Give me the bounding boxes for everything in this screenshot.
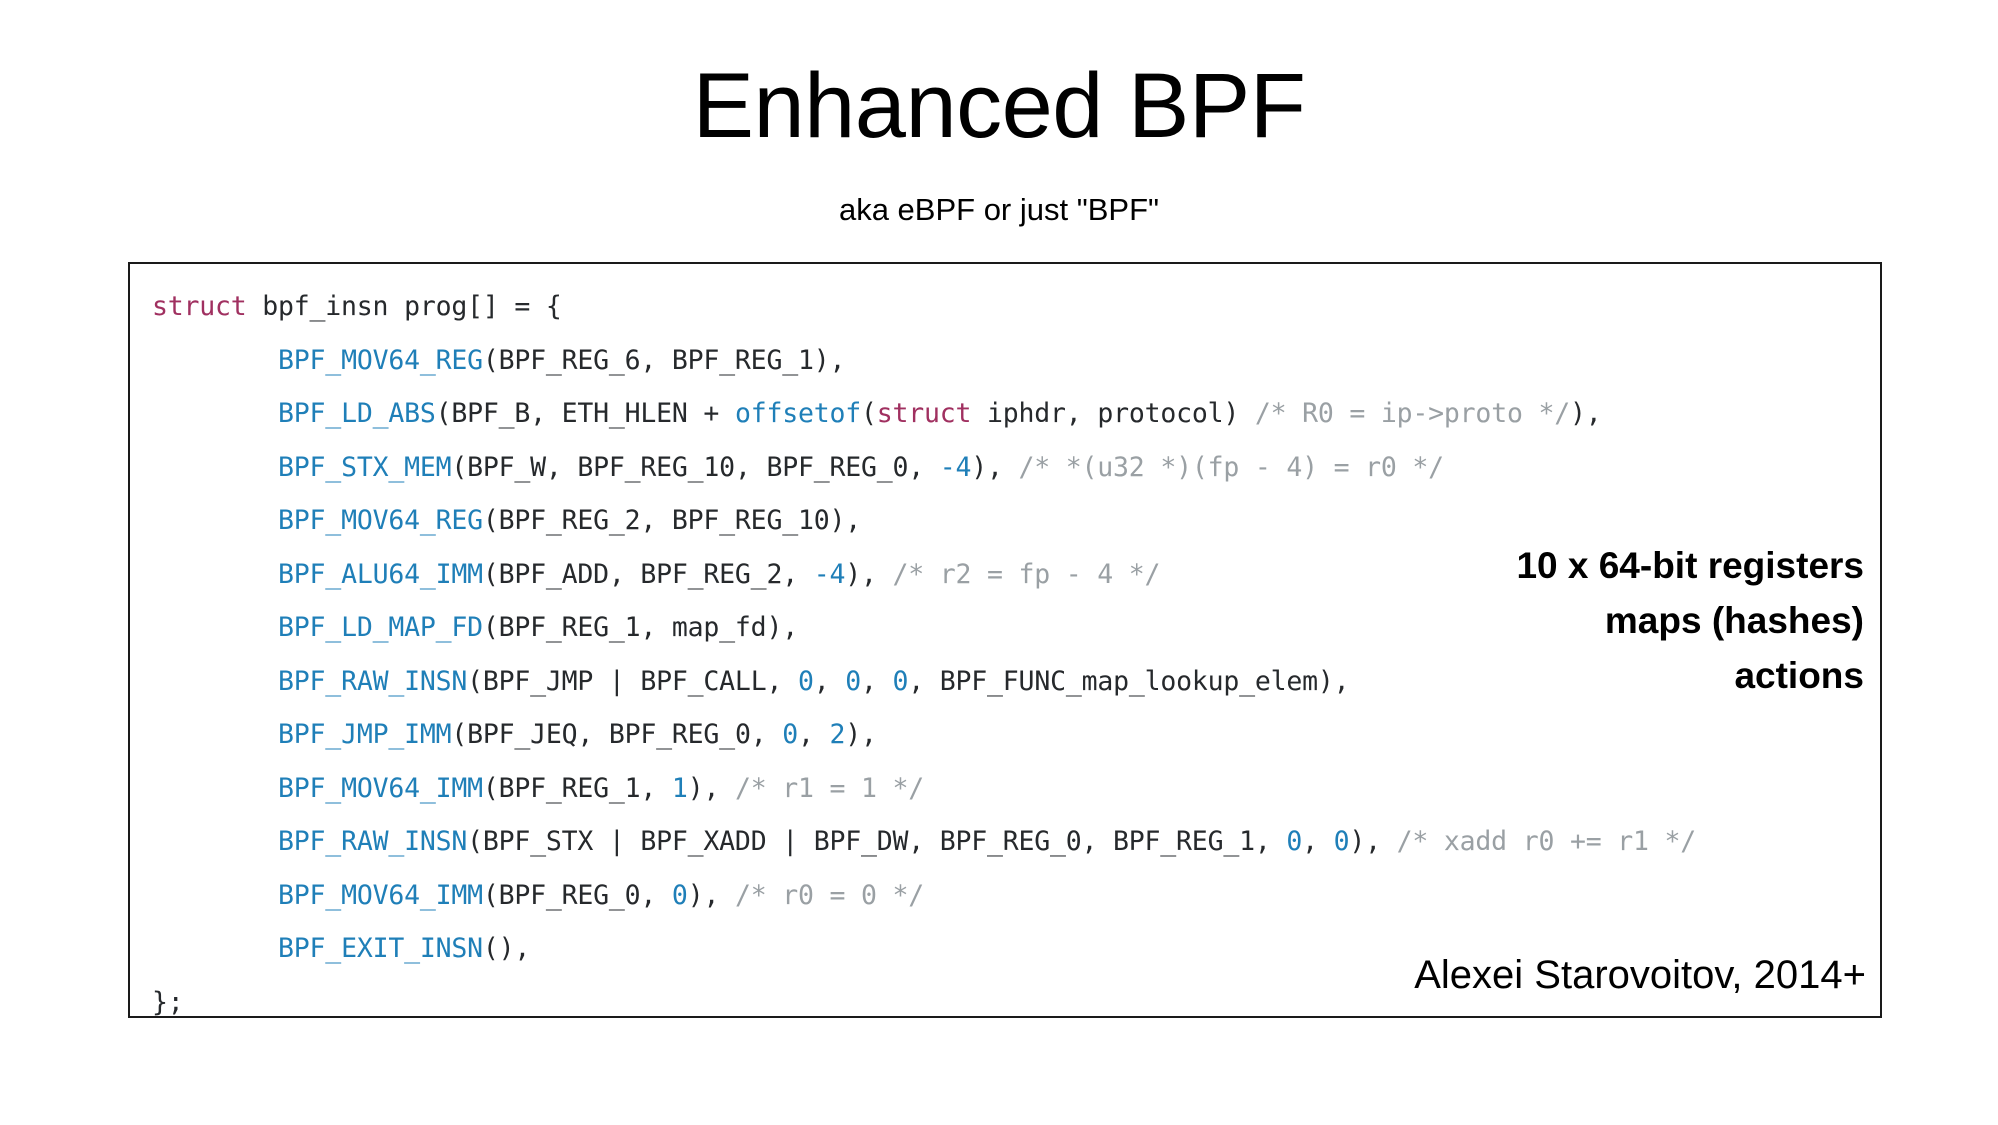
feature-annotation: 10 x 64-bit registersmaps (hashes)action… [1150, 538, 1864, 703]
code-token-com: /* xadd r0 += r1 */ [1397, 826, 1696, 857]
code-token-plain [152, 452, 278, 483]
annotation-line: maps (hashes) [1150, 593, 1864, 648]
code-line: BPF_STX_MEM(BPF_W, BPF_REG_10, BPF_REG_0… [152, 441, 1876, 495]
code-token-plain: ), [1570, 398, 1602, 429]
code-token-fn: BPF_MOV64_IMM [278, 880, 483, 911]
code-token-com: /* *(u32 *)(fp - 4) = r0 */ [1019, 452, 1444, 483]
code-token-fn: BPF_JMP_IMM [278, 719, 451, 750]
code-token-plain: ), [971, 452, 1018, 483]
code-token-plain: (BPF_W, BPF_REG_10, BPF_REG_0, [451, 452, 939, 483]
code-token-num: 0 [1334, 826, 1350, 857]
code-token-plain [152, 666, 278, 697]
code-token-plain [152, 773, 278, 804]
code-token-plain: (BPF_REG_1, [483, 773, 672, 804]
code-token-plain: (BPF_ADD, BPF_REG_2, [483, 559, 814, 590]
code-line: BPF_MOV64_IMM(BPF_REG_0, 0), /* r0 = 0 *… [152, 869, 1876, 923]
code-token-plain: (BPF_REG_0, [483, 880, 672, 911]
code-token-fn: BPF_MOV64_REG [278, 345, 483, 376]
code-token-plain [152, 933, 278, 964]
code-token-plain: ), [845, 559, 892, 590]
code-token-plain: (), [483, 933, 530, 964]
code-token-plain: ), [1349, 826, 1396, 857]
code-token-num: 0 [672, 880, 688, 911]
annotation-line: 10 x 64-bit registers [1150, 538, 1864, 593]
code-token-fn: BPF_RAW_INSN [278, 666, 467, 697]
code-token-plain: (BPF_REG_1, map_fd), [483, 612, 798, 643]
code-line: BPF_RAW_INSN(BPF_STX | BPF_XADD | BPF_DW… [152, 815, 1876, 869]
code-token-plain: }; [152, 987, 184, 1018]
code-token-plain [152, 880, 278, 911]
code-token-fn: BPF_STX_MEM [278, 452, 451, 483]
code-token-plain: iphdr, protocol) [971, 398, 1255, 429]
code-token-plain: (BPF_REG_6, BPF_REG_1), [483, 345, 845, 376]
code-token-fn: BPF_LD_ABS [278, 398, 436, 429]
code-token-num: 0 [782, 719, 798, 750]
code-line: struct bpf_insn prog[] = { [152, 280, 1876, 334]
code-token-fn: offsetof [735, 398, 861, 429]
author-credit: Alexei Starovoitov, 2014+ [1100, 953, 1866, 998]
code-token-plain [152, 719, 278, 750]
code-token-plain: ), [845, 719, 877, 750]
code-token-plain: (BPF_B, ETH_HLEN + [436, 398, 735, 429]
code-token-plain [152, 505, 278, 536]
code-token-com: /* r0 = 0 */ [735, 880, 924, 911]
code-token-kw: struct [877, 398, 972, 429]
slide: Enhanced BPF aka eBPF or just "BPF" stru… [0, 0, 1998, 1125]
code-line: BPF_LD_ABS(BPF_B, ETH_HLEN + offsetof(st… [152, 387, 1876, 441]
code-token-plain: ( [861, 398, 877, 429]
code-line: BPF_MOV64_IMM(BPF_REG_1, 1), /* r1 = 1 *… [152, 762, 1876, 816]
code-line: BPF_JMP_IMM(BPF_JEQ, BPF_REG_0, 0, 2), [152, 708, 1876, 762]
code-token-plain [152, 826, 278, 857]
code-token-kw: struct [152, 291, 262, 322]
code-token-num: 0 [893, 666, 909, 697]
code-token-num: 2 [829, 719, 845, 750]
code-token-fn: BPF_LD_MAP_FD [278, 612, 483, 643]
annotation-line: actions [1150, 648, 1864, 703]
code-token-plain [152, 345, 278, 376]
code-token-plain: bpf_insn prog[] = { [262, 291, 561, 322]
code-token-plain: , [861, 666, 893, 697]
code-token-plain: (BPF_REG_2, BPF_REG_10), [483, 505, 861, 536]
code-token-fn: BPF_MOV64_IMM [278, 773, 483, 804]
code-token-plain: , [1302, 826, 1334, 857]
code-token-plain: (BPF_JMP | BPF_CALL, [467, 666, 798, 697]
code-token-com: /* r2 = fp - 4 */ [892, 559, 1160, 590]
code-token-fn: BPF_MOV64_REG [278, 505, 483, 536]
code-token-num: 0 [1286, 826, 1302, 857]
code-token-plain [152, 612, 278, 643]
code-token-num: 0 [798, 666, 814, 697]
code-token-fn: BPF_EXIT_INSN [278, 933, 483, 964]
code-line: BPF_MOV64_REG(BPF_REG_6, BPF_REG_1), [152, 334, 1876, 388]
code-token-plain: , [814, 666, 846, 697]
code-token-plain: ), [688, 880, 735, 911]
code-token-num: -4 [940, 452, 972, 483]
code-token-num: -4 [814, 559, 846, 590]
code-token-plain [152, 559, 278, 590]
page-title: Enhanced BPF [0, 58, 1998, 155]
code-token-plain: , [798, 719, 830, 750]
page-subtitle: aka eBPF or just "BPF" [0, 192, 1998, 228]
code-token-plain: ), [688, 773, 735, 804]
code-token-fn: BPF_RAW_INSN [278, 826, 467, 857]
code-token-num: 0 [845, 666, 861, 697]
code-token-plain: (BPF_STX | BPF_XADD | BPF_DW, BPF_REG_0,… [467, 826, 1286, 857]
code-token-com: /* R0 = ip->proto */ [1255, 398, 1570, 429]
code-token-fn: BPF_ALU64_IMM [278, 559, 483, 590]
code-token-num: 1 [672, 773, 688, 804]
code-token-com: /* r1 = 1 */ [735, 773, 924, 804]
code-token-plain: (BPF_JEQ, BPF_REG_0, [451, 719, 782, 750]
code-token-plain [152, 398, 278, 429]
